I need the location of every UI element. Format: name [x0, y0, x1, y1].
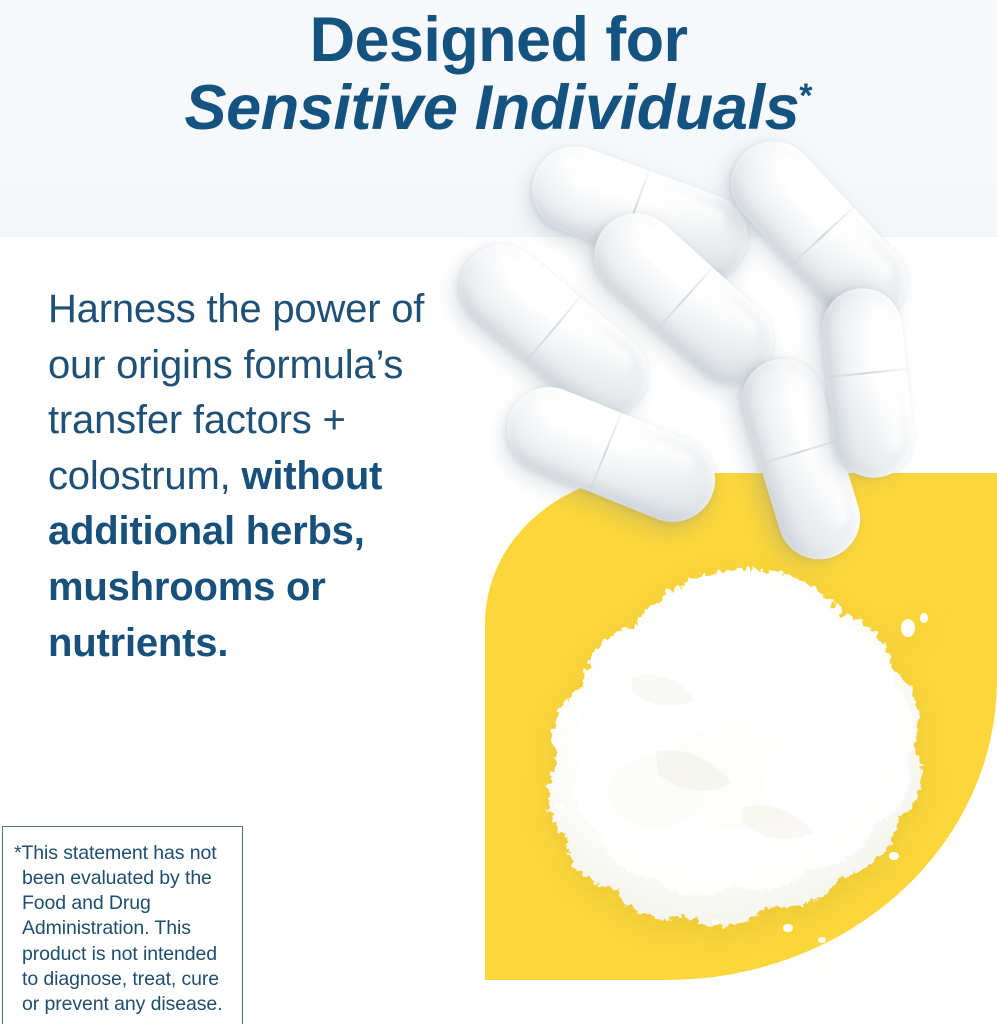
white-powder-pile-image: [536, 556, 950, 956]
product-feature-graphic: Designed for Sensitive Individuals* Harn…: [0, 0, 997, 1024]
white-capsules-image: [460, 168, 920, 588]
fda-disclaimer-box: *This statement has not been evaluated b…: [2, 826, 243, 1024]
body-copy: Harness the power of our origins formula…: [48, 282, 468, 671]
fda-disclaimer-text: *This statement has not been evaluated b…: [14, 841, 230, 1017]
